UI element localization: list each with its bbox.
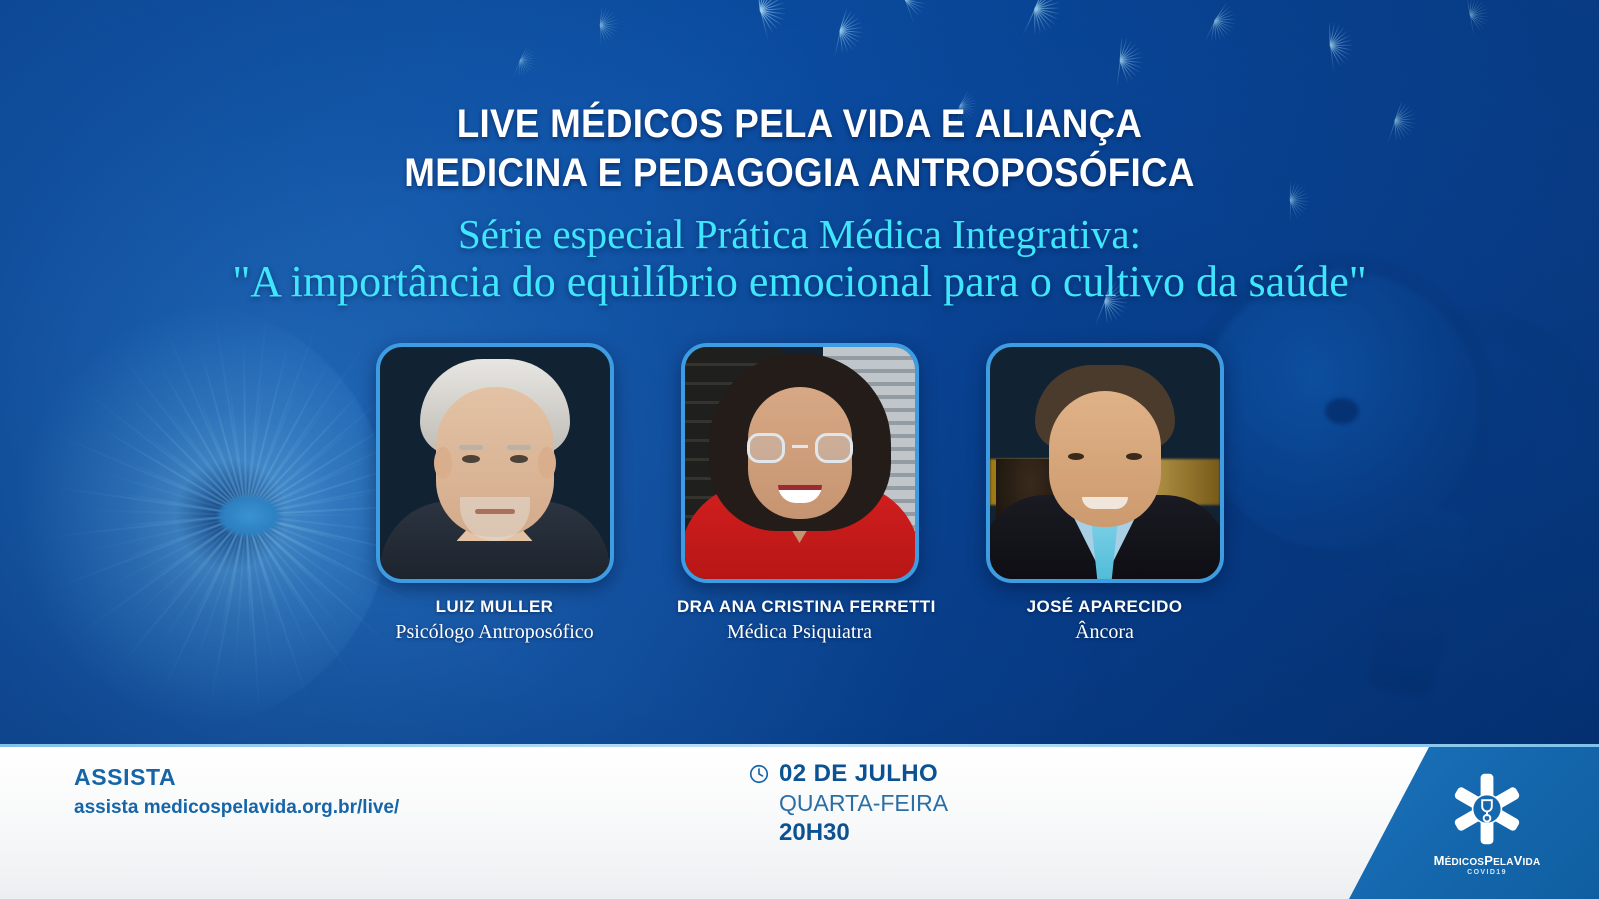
speaker-card-1: LUIZ MULLER Psicólogo Antroposófico xyxy=(372,343,617,644)
event-title-line-2: MEDICINA E PEDAGOGIA ANTROPOSÓFICA xyxy=(64,149,1535,198)
speaker-role-1: Psicólogo Antroposófico xyxy=(372,621,617,644)
watch-url-link[interactable]: assista medicospelavida.org.br/live/ xyxy=(74,797,399,819)
speaker-name-3: JOSÉ APARECIDO xyxy=(982,597,1227,617)
logo-text-ela: ELA xyxy=(1493,857,1514,868)
clock-icon xyxy=(748,763,770,785)
footer-top-divider xyxy=(0,744,1599,747)
event-poster: LIVE MÉDICOS PELA VIDA E ALIANÇA MEDICIN… xyxy=(0,0,1599,899)
brand-logo: MÉDICOSPELAVIDA COVID19 xyxy=(1403,769,1571,876)
speaker-card-3: JOSÉ APARECIDO Âncora xyxy=(982,343,1227,644)
watch-info-block: ASSISTA assista medicospelavida.org.br/l… xyxy=(74,764,399,819)
speaker-name-1: LUIZ MULLER xyxy=(372,597,617,617)
speaker-role-3: Âncora xyxy=(982,621,1227,644)
title-block: LIVE MÉDICOS PELA VIDA E ALIANÇA MEDICIN… xyxy=(0,100,1599,306)
datetime-block: 02 DE JULHO QUARTA-FEIRA 20H30 xyxy=(748,760,948,847)
star-of-life-stethoscope-icon xyxy=(1447,769,1527,849)
speaker-role-2: Médica Psiquiatra xyxy=(677,621,922,644)
event-weekday: QUARTA-FEIRA xyxy=(779,790,948,817)
logo-text-ida: IDA xyxy=(1523,857,1541,868)
logo-text-edicos: ÉDICOS xyxy=(1445,857,1485,868)
speaker-name-2: DRA ANA CRISTINA FERRETTI xyxy=(677,597,922,617)
logo-subtitle: COVID19 xyxy=(1403,869,1571,876)
logo-text-p: P xyxy=(1484,853,1493,868)
watch-label: ASSISTA xyxy=(74,764,399,791)
event-subtitle-line-1: Série especial Prática Médica Integrativ… xyxy=(0,210,1599,258)
logo-wordmark: MÉDICOSPELAVIDA xyxy=(1403,853,1571,868)
speaker-photo-2 xyxy=(681,343,919,583)
logo-text-v: V xyxy=(1514,853,1523,868)
event-time: 20H30 xyxy=(779,819,948,847)
event-subtitle-line-2: "A importância do equilíbrio emocional p… xyxy=(0,258,1599,306)
speaker-photo-1 xyxy=(376,343,614,583)
logo-panel: MÉDICOSPELAVIDA COVID19 xyxy=(1349,747,1599,899)
speaker-photo-3 xyxy=(986,343,1224,583)
event-title-line-1: LIVE MÉDICOS PELA VIDA E ALIANÇA xyxy=(64,100,1535,149)
speaker-card-2: DRA ANA CRISTINA FERRETTI Médica Psiquia… xyxy=(677,343,922,644)
event-subtitle-block: Série especial Prática Médica Integrativ… xyxy=(0,210,1599,306)
event-date: 02 DE JULHO xyxy=(779,760,938,788)
footer-bar: ASSISTA assista medicospelavida.org.br/l… xyxy=(0,747,1599,899)
speakers-row: LUIZ MULLER Psicólogo Antroposófico DRA … xyxy=(0,343,1599,644)
logo-text-m: M xyxy=(1434,853,1445,868)
